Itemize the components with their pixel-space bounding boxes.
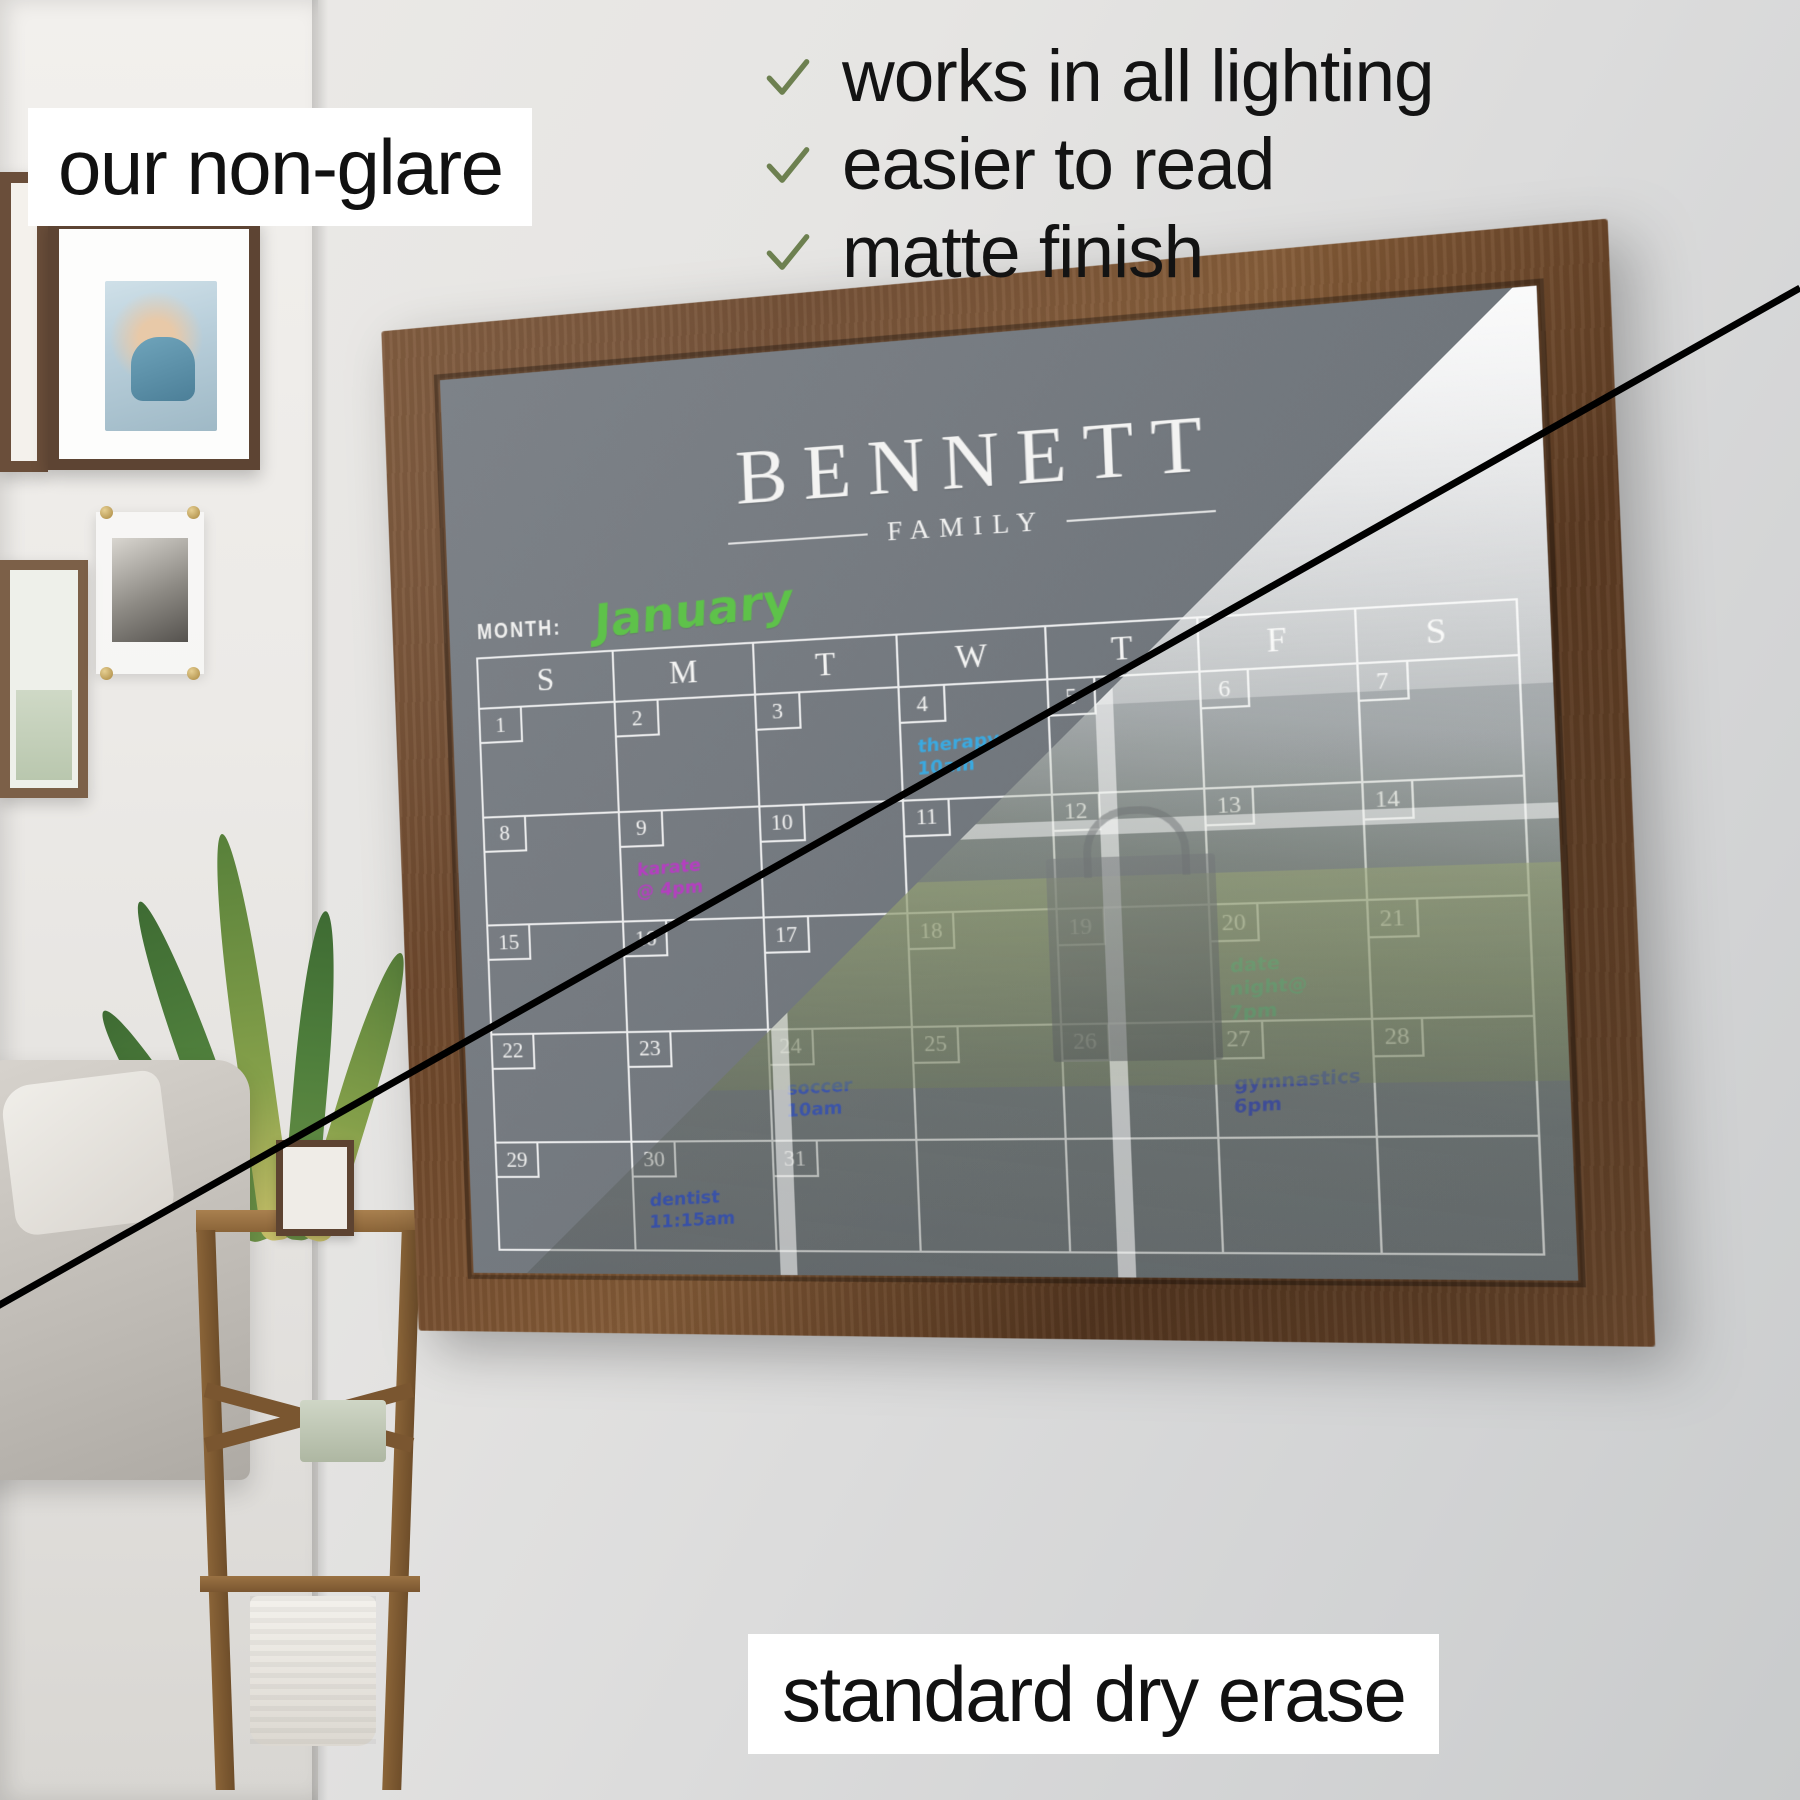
rule-left <box>728 533 868 544</box>
day-header-5: F <box>1196 607 1355 670</box>
rule-right <box>1066 510 1215 522</box>
calendar-cell[interactable]: 31 <box>771 1139 920 1253</box>
date-number: 26 <box>1062 1024 1110 1061</box>
calendar-cell[interactable] <box>1217 1136 1380 1255</box>
decor-box <box>300 1400 386 1462</box>
calendar-cell[interactable]: 10 <box>758 799 906 916</box>
calendar-cell[interactable]: 4therapy10am <box>898 678 1051 799</box>
gallery-frame-child-photo <box>48 218 260 470</box>
date-number: 13 <box>1205 787 1255 826</box>
date-number: 18 <box>909 913 956 950</box>
acrylic-stud <box>100 667 113 680</box>
day-header-4: T <box>1044 616 1199 678</box>
feature-text: works in all lighting <box>842 36 1434 118</box>
tabletop-mini-frame <box>276 1140 354 1236</box>
handwritten-event-note[interactable]: dentist11:15am <box>650 1185 768 1235</box>
date-number: 19 <box>1057 909 1105 947</box>
wedding-photo <box>112 538 188 642</box>
day-header-3: W <box>896 625 1046 686</box>
calendar-cell[interactable]: 27gymnastics6pm <box>1213 1018 1376 1138</box>
calendar-cell[interactable]: 24soccer10am <box>767 1026 916 1140</box>
date-number: 27 <box>1215 1022 1265 1060</box>
date-number: 11 <box>904 799 951 837</box>
date-number: 25 <box>913 1027 960 1064</box>
calendar-cell[interactable]: 30dentist11:15am <box>631 1140 776 1252</box>
check-icon <box>760 49 816 105</box>
calendar-cell[interactable]: 19 <box>1055 904 1213 1023</box>
calendar-cell[interactable]: 9karate@ 4pm <box>618 805 762 921</box>
calendar-cell[interactable]: 26 <box>1060 1020 1218 1138</box>
date-number: 1 <box>480 708 523 744</box>
calendar-cell[interactable]: 18 <box>907 908 1060 1026</box>
calendar-cell[interactable]: 15 <box>486 921 626 1034</box>
date-number: 29 <box>496 1144 539 1179</box>
calendar-cell[interactable] <box>1375 1135 1545 1256</box>
date-number: 2 <box>616 701 660 738</box>
board-writing-surface[interactable]: BENNETT FAMILY MONTH: January SMTWTFS 12… <box>440 286 1578 1281</box>
date-number: 15 <box>488 925 531 961</box>
child-photo <box>105 281 217 431</box>
throw-pillow <box>0 1069 177 1237</box>
date-number: 22 <box>492 1035 535 1070</box>
calendar-cell[interactable] <box>915 1138 1068 1253</box>
handwritten-event-note[interactable]: gymnastics6pm <box>1234 1065 1367 1120</box>
date-number: 30 <box>633 1143 677 1178</box>
check-icon <box>760 224 816 280</box>
handwritten-event-note[interactable]: therapy10am <box>918 725 1043 782</box>
month-value-handwritten[interactable]: January <box>593 571 794 649</box>
calendar-grid[interactable]: SMTWTFS 1234therapy10am56789karate@ 4pm1… <box>476 598 1545 1256</box>
woven-basket <box>250 1596 376 1746</box>
calendar-week-4: 222324soccer10am252627gymnastics6pm28 <box>490 1015 1540 1142</box>
date-number: 6 <box>1201 670 1251 709</box>
calendar-cell[interactable]: 8 <box>482 811 622 925</box>
day-header-0: S <box>476 650 614 708</box>
date-number: 8 <box>484 817 527 853</box>
date-number: 17 <box>765 917 811 954</box>
calendar-cell[interactable]: 21 <box>1365 894 1535 1017</box>
gallery-frame-landscape <box>0 560 88 798</box>
calendar-cell[interactable]: 29 <box>494 1141 635 1251</box>
date-number: 3 <box>756 693 802 731</box>
date-number: 21 <box>1368 900 1419 939</box>
calendar-cell[interactable]: 14 <box>1360 774 1530 899</box>
calendar-cell[interactable]: 2 <box>614 694 758 811</box>
acrylic-stud <box>100 506 113 519</box>
label-non-glare: our non-glare <box>28 108 532 226</box>
month-row: MONTH: January <box>476 577 795 650</box>
calendar-cell[interactable]: 1 <box>478 701 618 816</box>
feature-list: works in all lightingeasier to readmatte… <box>760 36 1780 293</box>
handwritten-event-note[interactable]: karate@ 4pm <box>637 850 755 904</box>
calendar-cell[interactable]: 11 <box>902 793 1055 912</box>
family-calendar-board[interactable]: BENNETT FAMILY MONTH: January SMTWTFS 12… <box>381 219 1655 1347</box>
calendar-cell[interactable]: 28 <box>1370 1015 1540 1137</box>
month-label: MONTH: <box>477 614 562 645</box>
handwritten-event-note[interactable]: datenight@ 7pm <box>1229 946 1362 1025</box>
family-subtitle: FAMILY <box>887 507 1047 547</box>
date-number: 4 <box>900 686 947 724</box>
feature-text: matte finish <box>842 212 1203 294</box>
day-header-1: M <box>612 642 754 701</box>
calendar-cell[interactable]: 3 <box>754 686 902 805</box>
date-number: 12 <box>1053 793 1101 831</box>
calendar-cell[interactable]: 25 <box>911 1023 1064 1139</box>
date-number: 9 <box>620 811 664 847</box>
acrylic-stud <box>187 506 200 519</box>
calendar-cell[interactable]: 16 <box>622 917 766 1031</box>
calendar-cell[interactable]: 5 <box>1046 671 1203 794</box>
date-number: 31 <box>773 1142 819 1178</box>
date-number: 5 <box>1048 678 1096 717</box>
date-number: 10 <box>760 805 806 842</box>
calendar-cell[interactable]: 13 <box>1203 781 1365 904</box>
acrylic-photo-holder <box>96 512 204 674</box>
day-header-2: T <box>752 634 898 694</box>
day-header-6: S <box>1353 598 1520 662</box>
calendar-cell[interactable]: 17 <box>762 912 911 1028</box>
calendar-week-5: 2930dentist11:15am31 <box>494 1135 1545 1256</box>
calendar-cell[interactable]: 23 <box>627 1028 772 1141</box>
calendar-cell[interactable]: 22 <box>490 1031 630 1142</box>
feature-item-1: works in all lighting <box>760 36 1780 118</box>
calendar-weeks[interactable]: 1234therapy10am56789karate@ 4pm101112131… <box>478 654 1545 1256</box>
calendar-cell[interactable]: 6 <box>1198 662 1360 787</box>
date-number: 20 <box>1210 904 1260 942</box>
calendar-cell[interactable] <box>1064 1137 1222 1254</box>
calendar-cell[interactable]: 12 <box>1050 787 1207 908</box>
calendar-cell[interactable]: 7 <box>1356 654 1526 781</box>
date-number: 24 <box>769 1030 815 1066</box>
check-icon <box>760 137 816 193</box>
date-number: 14 <box>1363 781 1414 820</box>
date-number: 23 <box>629 1032 673 1068</box>
feature-text: easier to read <box>842 124 1274 206</box>
label-standard-dry-erase: standard dry erase <box>748 1634 1439 1754</box>
date-number: 7 <box>1358 662 1409 702</box>
feature-item-2: easier to read <box>760 124 1780 206</box>
handwritten-event-note[interactable]: soccer10am <box>786 1071 907 1123</box>
calendar-cell[interactable]: 20datenight@ 7pm <box>1208 899 1370 1020</box>
date-number: 28 <box>1373 1019 1424 1057</box>
date-number: 16 <box>624 922 668 958</box>
feature-item-3: matte finish <box>760 212 1780 294</box>
